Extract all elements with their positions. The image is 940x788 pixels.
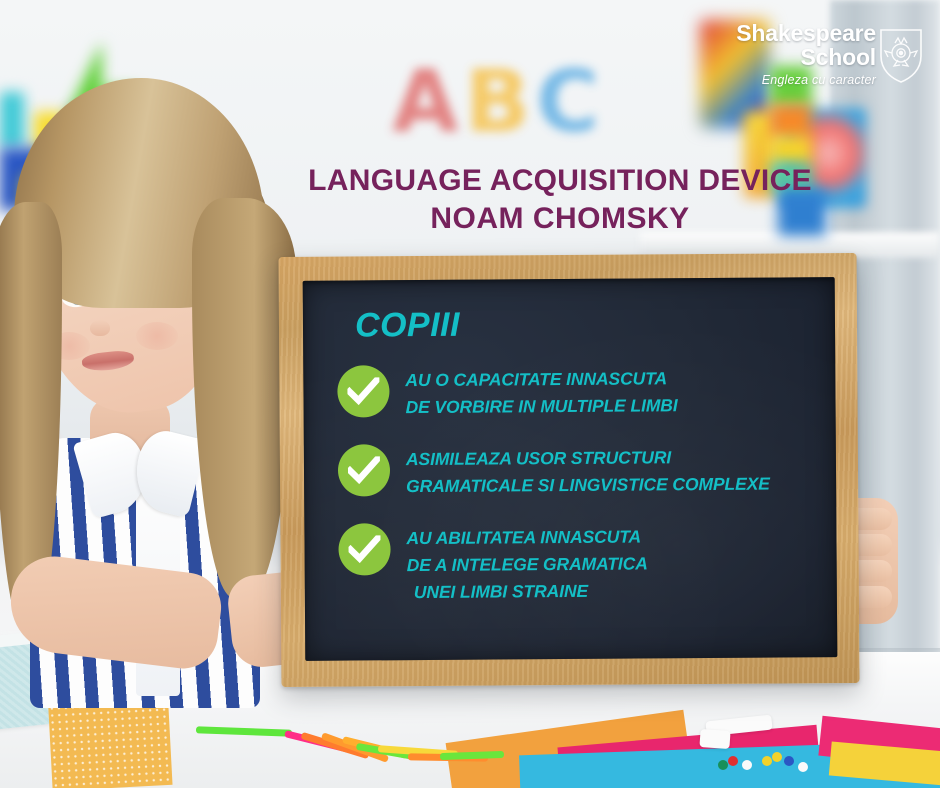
brand-name-line-1: Shakespeare (736, 22, 876, 45)
bullet-list: AU O CAPACITATE INNASCUTA DE VORBIRE IN … (337, 360, 819, 606)
letter-c: C (536, 52, 605, 152)
bullet-text: ASIMILEAZA USOR STRUCTURI GRAMATICALE SI… (406, 440, 770, 500)
bullet-line: DE A INTELEGE GRAMATICA (407, 550, 648, 578)
bullet-item: ASIMILEAZA USOR STRUCTURI GRAMATICALE SI… (338, 439, 818, 500)
letter-a: A (392, 52, 465, 152)
brand-name-line-2: School (736, 45, 876, 69)
bullet-line: AU ABILITATEA INNASCUTA (406, 524, 647, 552)
letter-b: B (465, 52, 537, 152)
chalkboard-surface: COPIII AU O CAPACITATE INNASCUTA DE VORB… (303, 277, 838, 661)
abc-wall-letters: ABC (392, 52, 605, 152)
push-pin-yellow (762, 756, 772, 766)
bullet-line: GRAMATICALE SI LINGVISTICE COMPLEXE (406, 470, 770, 499)
page-title: LANGUAGE ACQUISITION DEVICE NOAM CHOMSKY (260, 162, 860, 237)
chalkboard-frame: COPIII AU O CAPACITATE INNASCUTA DE VORB… (279, 253, 860, 687)
bullet-text: AU O CAPACITATE INNASCUTA DE VORBIRE IN … (405, 361, 677, 420)
shield-rose-crest-icon (878, 26, 924, 84)
brand-logo-text: Shakespeare School Engleza cu caracter (736, 22, 876, 87)
brand-logo[interactable]: Shakespeare School Engleza cu caracter (712, 22, 924, 112)
bullet-line: AU O CAPACITATE INNASCUTA (405, 365, 677, 393)
check-circle-icon (338, 524, 390, 576)
push-pin-white (742, 760, 752, 770)
chalk-piece-2 (699, 729, 730, 749)
bullet-line: UNEI LIMBI STRAINE (407, 577, 648, 605)
push-pin-white-2 (798, 762, 808, 772)
bullet-item: AU O CAPACITATE INNASCUTA DE VORBIRE IN … (337, 360, 817, 421)
brand-tagline: Engleza cu caracter (736, 73, 876, 87)
bullet-line: DE VORBIRE IN MULTIPLE LIMBI (405, 392, 677, 420)
bullet-item: AU ABILITATEA INNASCUTA DE A INTELEGE GR… (338, 519, 819, 606)
check-circle-icon (338, 444, 390, 496)
bullet-text: AU ABILITATEA INNASCUTA DE A INTELEGE GR… (406, 520, 648, 605)
push-pin-blue (784, 756, 794, 766)
push-pin-green (718, 760, 728, 770)
chalkboard-heading: COPIII (355, 303, 817, 345)
poster-canvas: ABC (0, 0, 940, 788)
cheek-right (136, 322, 178, 350)
push-pin-yellow-2 (772, 752, 782, 762)
check-circle-icon (337, 365, 389, 417)
bullet-line: ASIMILEAZA USOR STRUCTURI (406, 444, 770, 473)
nose (90, 320, 110, 336)
title-line-1: LANGUAGE ACQUISITION DEVICE (260, 162, 860, 200)
title-line-2: NOAM CHOMSKY (260, 200, 860, 238)
push-pin-red (728, 756, 738, 766)
